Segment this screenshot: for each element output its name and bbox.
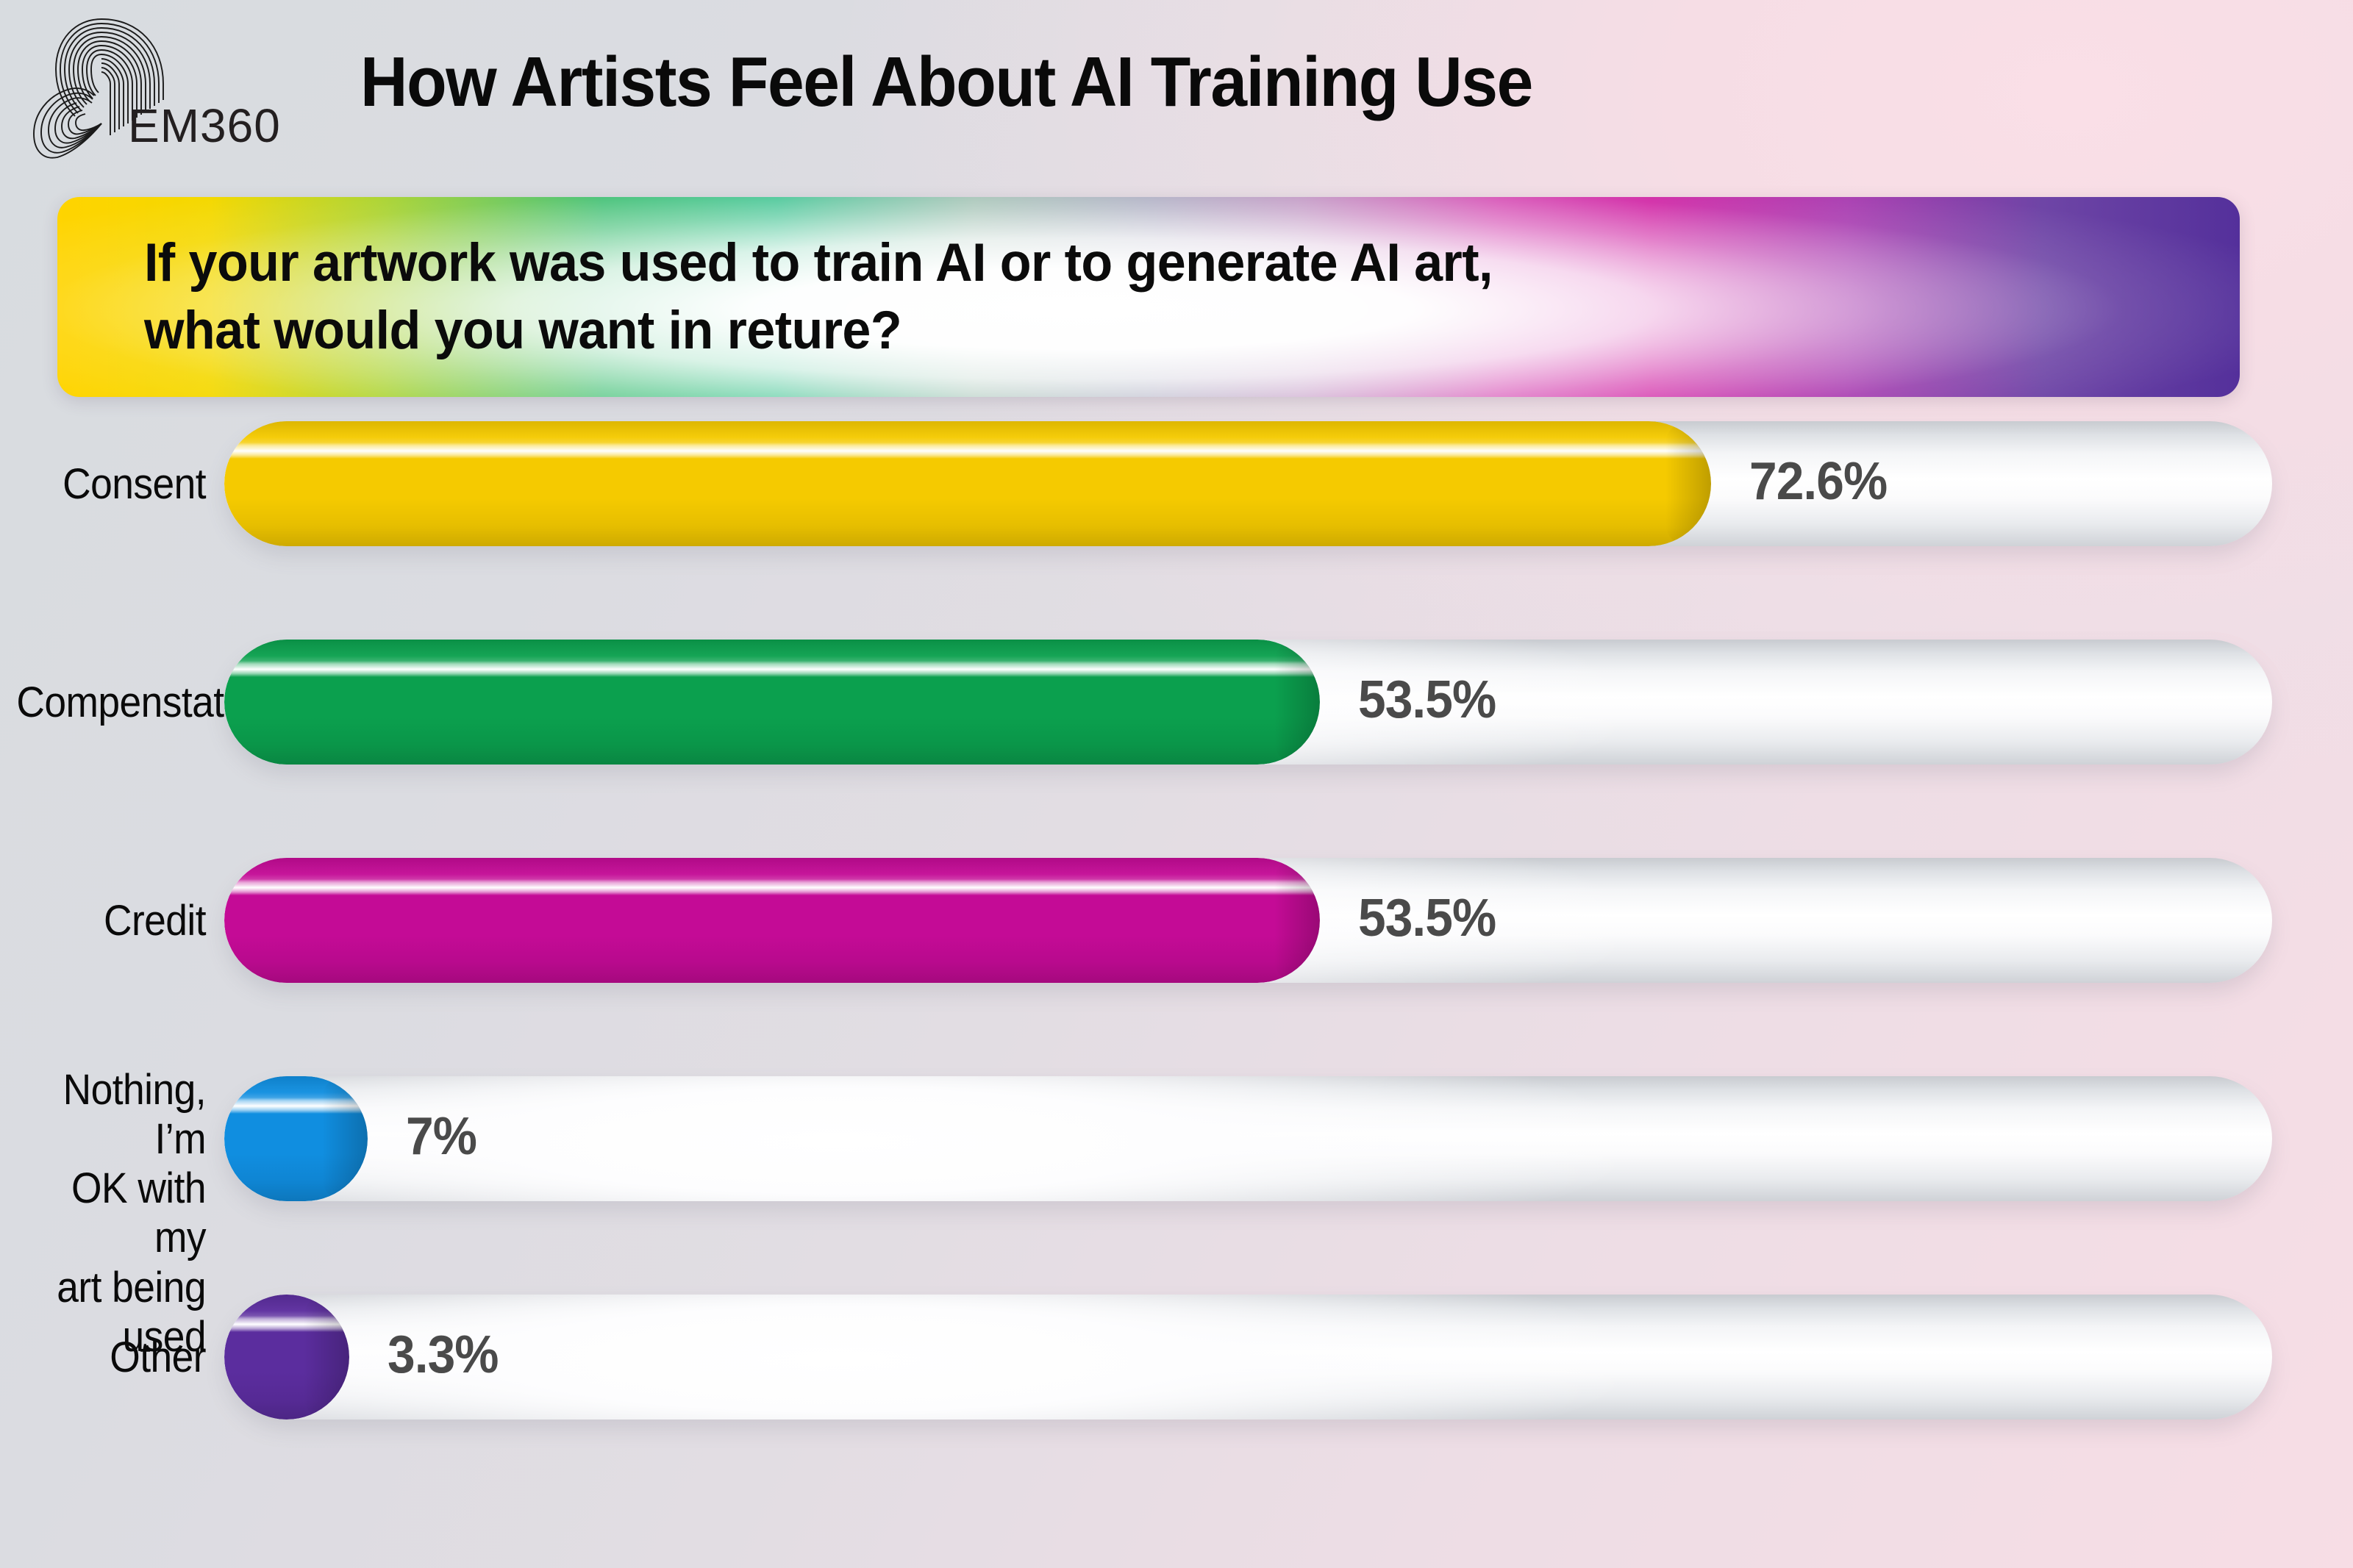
- bar-track: [224, 640, 2272, 765]
- bar-category-label-line: OK with my: [16, 1164, 206, 1263]
- bar-value-label: 53.5%: [1358, 888, 1496, 948]
- bar-fill: [224, 858, 1320, 983]
- bar-value-label: 7%: [406, 1106, 476, 1167]
- bar-fill-end-cap: [1274, 858, 1320, 983]
- bar-category-label-line: Credit: [16, 896, 206, 945]
- question-line-1: If your artwork was used to train AI or …: [144, 229, 2093, 297]
- bar-value-label: 72.6%: [1749, 451, 1887, 512]
- question-line-2: what would you want in reture?: [144, 297, 2093, 365]
- brand-logo: EM360: [25, 10, 290, 165]
- bar-category-label: Other: [16, 1333, 206, 1382]
- bar-fill-end-cap: [304, 1295, 349, 1420]
- bar-fill: [224, 640, 1320, 765]
- bar-fill-end-cap: [322, 1076, 368, 1201]
- bar-fill-body: [224, 858, 1320, 983]
- bar-row: Compenstation53.5%: [0, 640, 2353, 765]
- bar-value-label: 3.3%: [388, 1325, 499, 1385]
- bar-category-label-line: Compenstation: [16, 678, 206, 727]
- bar-fill-end-cap: [1274, 640, 1320, 765]
- bar-row: Consent72.6%: [0, 421, 2353, 546]
- bar-category-label: Consent: [16, 459, 206, 509]
- horizontal-bar-chart: Consent72.6%Compenstation53.5%Credit53.5…: [0, 416, 2353, 1519]
- bar-category-label-line: Consent: [16, 459, 206, 509]
- bar-fill: [224, 421, 1711, 546]
- bar-track: [224, 858, 2272, 983]
- page-title: How Artists Feel About AI Training Use: [360, 47, 1933, 118]
- bar-fill-highlight: [224, 443, 1711, 459]
- bar-category-label: Credit: [16, 896, 206, 945]
- bar-category-label: Nothing, I’mOK with myart being used: [16, 1065, 206, 1213]
- brand-wordmark: EM360: [128, 99, 281, 153]
- bar-row: Nothing, I’mOK with myart being used7%: [0, 1076, 2353, 1201]
- bar-row: Credit53.5%: [0, 858, 2353, 983]
- bar-category-label-line: Other: [16, 1333, 206, 1382]
- bar-row: Other3.3%: [0, 1295, 2353, 1420]
- bar-fill-end-cap: [1665, 421, 1711, 546]
- bar-fill: [224, 1295, 349, 1420]
- bar-fill-highlight: [224, 879, 1320, 895]
- bar-track: [224, 1295, 2272, 1420]
- bar-track: [224, 421, 2272, 546]
- page-header: EM360 How Artists Feel About AI Training…: [0, 0, 2353, 185]
- bar-fill-body: [224, 640, 1320, 765]
- bar-fill-highlight: [224, 661, 1320, 677]
- bar-category-label-line: Nothing, I’m: [16, 1065, 206, 1164]
- bar-fill-body: [224, 421, 1711, 546]
- bar-value-label: 53.5%: [1358, 670, 1496, 730]
- bar-category-label: Compenstation: [16, 678, 206, 727]
- question-banner: If your artwork was used to train AI or …: [57, 197, 2240, 397]
- bar-track: [224, 1076, 2272, 1201]
- question-text: If your artwork was used to train AI or …: [144, 229, 2093, 365]
- bar-fill: [224, 1076, 368, 1201]
